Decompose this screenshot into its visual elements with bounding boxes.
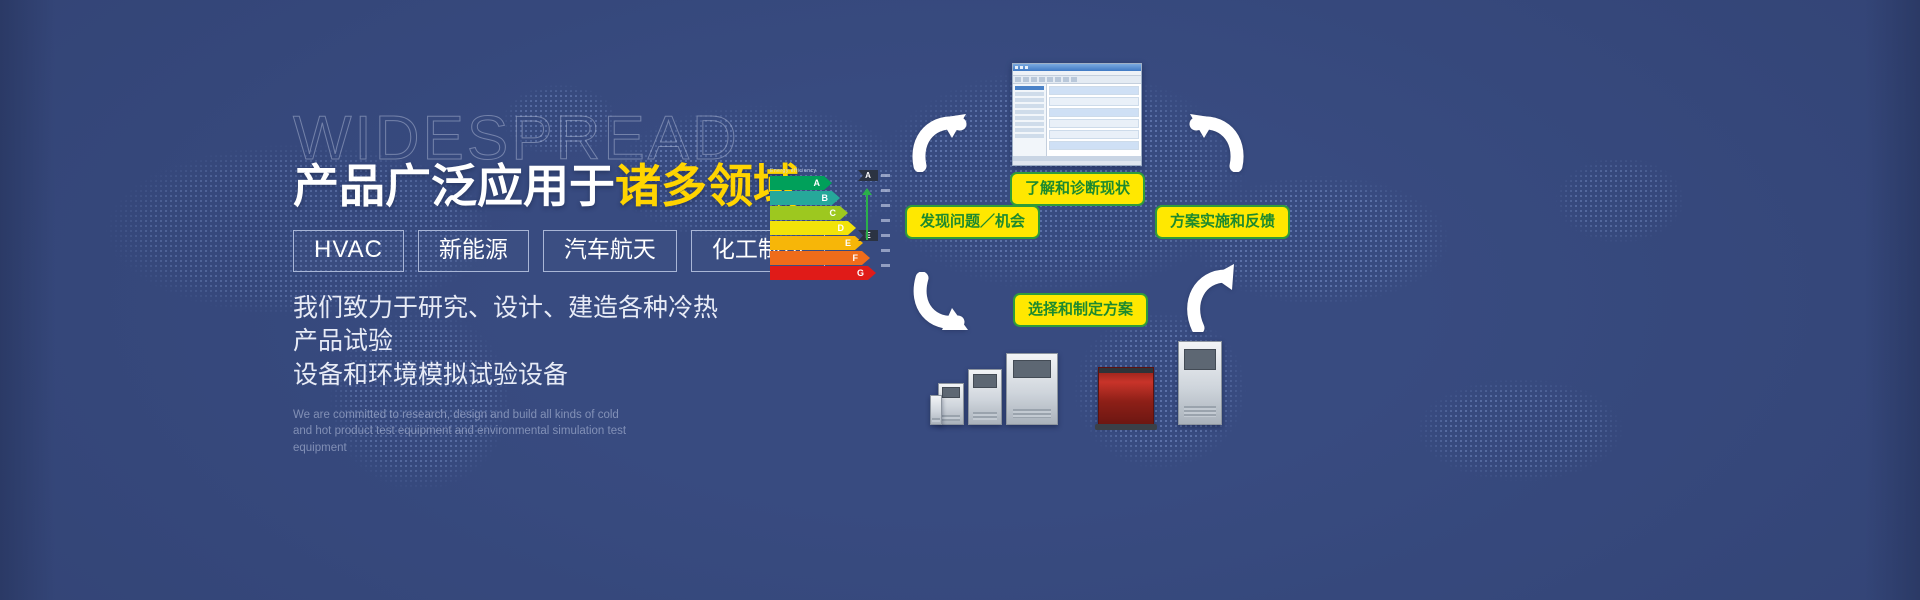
energy-scale-tick: [881, 189, 890, 192]
curved-arrow-icon-bottom-left: [912, 272, 974, 334]
hero-banner: WIDESPREAD 产品广泛应用于诸多领域 HVAC 新能源 汽车航天 化工制…: [0, 0, 1920, 600]
callout-select-plan[interactable]: 选择和制定方案: [1013, 293, 1148, 327]
tag-new-energy[interactable]: 新能源: [418, 230, 529, 272]
right-edge-shade: [1865, 0, 1920, 600]
energy-scale-spacer: [858, 260, 878, 271]
energy-rating-chart: Energy efficiency ABCDEFG AE: [770, 168, 880, 281]
energy-bar-f: F: [770, 251, 870, 265]
left-edge-shade: [0, 0, 55, 600]
curved-arrow-icon-top-left: [912, 112, 974, 172]
energy-scale-badge-e: E: [858, 230, 878, 241]
callout-discover-problem[interactable]: 发现问题／机会: [905, 205, 1040, 239]
callout-implement-feedback[interactable]: 方案实施和反馈: [1155, 205, 1290, 239]
headline-primary: 产品广泛应用于: [293, 160, 615, 212]
energy-scale-tick: [881, 219, 890, 222]
window-content: [1047, 84, 1141, 156]
energy-scale-row-5: [858, 243, 898, 258]
energy-scale-badge-a: A: [858, 170, 878, 181]
energy-scale-row-3: [858, 213, 898, 228]
energy-scale-row-2: [858, 198, 898, 213]
energy-scale-row-0: A: [858, 168, 898, 183]
energy-scale-row-4: E: [858, 228, 898, 243]
energy-scale-tick: [881, 204, 890, 207]
tag-hvac[interactable]: HVAC: [293, 230, 404, 272]
energy-scale-spacer: [858, 215, 878, 226]
product-chamber-large: [1006, 353, 1058, 425]
product-red-cylinder-rack: [1098, 367, 1154, 425]
energy-scale-spacer: [858, 200, 878, 211]
product-tall-white-cabinet: [1178, 341, 1222, 425]
energy-bar-b: B: [770, 191, 840, 205]
energy-scale-tick: [881, 174, 890, 177]
product-photo-group: [930, 330, 1240, 425]
window-titlebar: [1013, 64, 1141, 71]
description-cn-line-1: 我们致力于研究、设计、建造各种冷热产品试验: [293, 292, 723, 360]
product-cabinet-medium: [968, 369, 1002, 425]
tag-automotive-aerospace[interactable]: 汽车航天: [543, 230, 677, 272]
energy-scale-tick: [881, 249, 890, 252]
energy-bar-c: C: [770, 206, 848, 220]
window-sidebar: [1013, 84, 1047, 156]
energy-bar-e: E: [770, 236, 863, 250]
window-body: [1013, 84, 1141, 156]
window-toolbar: [1013, 76, 1141, 84]
energy-scale-spacer: [858, 245, 878, 256]
curved-arrow-icon-bottom-right: [1182, 262, 1244, 332]
description-cn-line-2: 设备和环境模拟试验设备: [293, 359, 723, 393]
description-en-line-1: We are committed to research, design and…: [293, 407, 653, 424]
energy-scale-tick: [881, 234, 890, 237]
window-statusbar: [1013, 156, 1141, 161]
improvement-arrow-icon: [866, 194, 868, 240]
energy-bar-d: D: [770, 221, 856, 235]
curved-arrow-icon-top-right: [1182, 112, 1244, 172]
callout-diagnose-status[interactable]: 了解和诊断现状: [1010, 172, 1145, 206]
energy-scale-column: AE: [858, 168, 898, 273]
banner-text-block: WIDESPREAD 产品广泛应用于诸多领域 HVAC 新能源 汽车航天 化工制…: [293, 108, 933, 457]
software-window-graphic: [1012, 63, 1142, 166]
energy-scale-tick: [881, 264, 890, 267]
energy-bar-a: A: [770, 176, 832, 190]
description-en-line-2: and hot product test equipment and envir…: [293, 423, 653, 456]
description-chinese: 我们致力于研究、设计、建造各种冷热产品试验 设备和环境模拟试验设备: [293, 292, 723, 393]
product-cabinet-wide: [930, 395, 942, 425]
energy-scale-row-6: [858, 258, 898, 273]
description-english: We are committed to research, design and…: [293, 407, 653, 457]
